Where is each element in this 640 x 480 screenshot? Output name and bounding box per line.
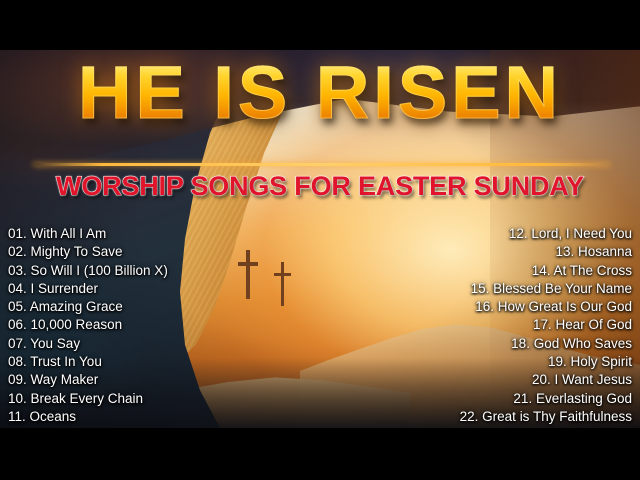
- subtitle: WORSHIP SONGS FOR EASTER SUNDAY: [0, 172, 640, 200]
- list-item: 18. God Who Saves: [460, 335, 632, 353]
- list-item: 20. I Want Jesus: [460, 371, 632, 389]
- tracklist-right: 12. Lord, I Need You 13. Hosanna 14. At …: [460, 225, 632, 426]
- title-divider: [33, 163, 610, 166]
- letterbox-bottom: [0, 428, 640, 480]
- video-thumbnail: HE IS RISEN WORSHIP SONGS FOR EASTER SUN…: [0, 0, 640, 480]
- list-item: 04. I Surrender: [8, 280, 168, 298]
- list-item: 02. Mighty To Save: [8, 243, 168, 261]
- list-item: 13. Hosanna: [460, 243, 632, 261]
- list-item: 16. How Great Is Our God: [460, 298, 632, 316]
- list-item: 14. At The Cross: [460, 262, 632, 280]
- list-item: 08. Trust In You: [8, 353, 168, 371]
- list-item: 19. Holy Spirit: [460, 353, 632, 371]
- letterbox-top: [0, 0, 640, 50]
- list-item: 17. Hear Of God: [460, 316, 632, 334]
- list-item: 07. You Say: [8, 335, 168, 353]
- list-item: 10. Break Every Chain: [8, 390, 168, 408]
- list-item: 09. Way Maker: [8, 371, 168, 389]
- list-item: 03. So Will I (100 Billion X): [8, 262, 168, 280]
- list-item: 22. Great is Thy Faithfulness: [460, 408, 632, 426]
- list-item: 12. Lord, I Need You: [460, 225, 632, 243]
- list-item: 11. Oceans: [8, 408, 168, 426]
- tracklist-left: 01. With All I Am 02. Mighty To Save 03.…: [8, 225, 168, 426]
- list-item: 21. Everlasting God: [460, 390, 632, 408]
- list-item: 01. With All I Am: [8, 225, 168, 243]
- list-item: 15. Blessed Be Your Name: [460, 280, 632, 298]
- page-title: HE IS RISEN: [0, 56, 640, 130]
- list-item: 06. 10,000 Reason: [8, 316, 168, 334]
- list-item: 05. Amazing Grace: [8, 298, 168, 316]
